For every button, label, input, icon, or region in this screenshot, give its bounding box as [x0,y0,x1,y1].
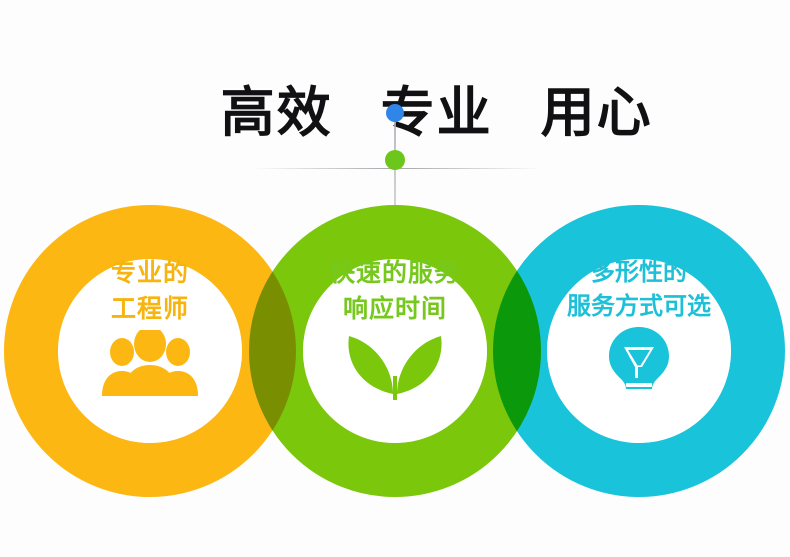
circle-title-response-time: 快速的服务 响应时间 [280,255,510,326]
circle-content-engineers: 专业的 工程师 [35,255,265,404]
circle-content-service-options: 多形性的 服务方式可选 [524,255,754,399]
sprout-leaves-icon [280,330,510,404]
lightbulb-icon [524,325,754,399]
circle-content-response-time: 快速的服务 响应时间 [280,255,510,404]
circle-title-engineers: 专业的 工程师 [35,255,265,326]
poster-canvas: 高效专业用心 专业的 工程师 [0,0,790,557]
people-group-icon [35,330,265,404]
circle-title-service-options: 多形性的 服务方式可选 [524,255,754,323]
